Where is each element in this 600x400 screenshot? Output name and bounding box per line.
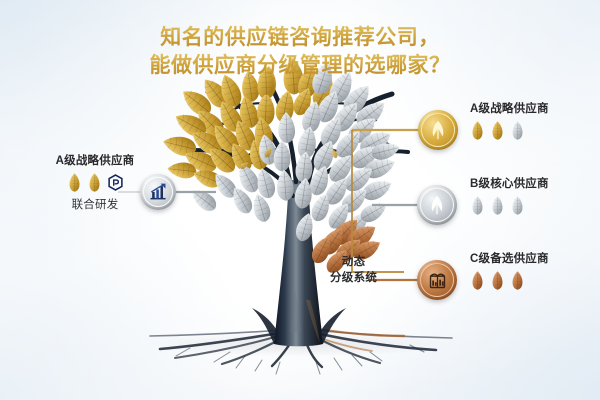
infographic-canvas: 知名的供应链咨询推荐公司， 能做供应商分级管理的选哪家？ xyxy=(0,0,600,400)
title-line-1: 知名的供应链咨询推荐公司， xyxy=(0,24,600,52)
page-title: 知名的供应链咨询推荐公司， 能做供应商分级管理的选哪家？ xyxy=(0,24,600,80)
tier-c-leaf-row xyxy=(470,271,549,290)
leaf-icon xyxy=(426,194,448,216)
tier-c-title: C级备选供应商 xyxy=(470,250,549,266)
hexagon-rd-icon[interactable] xyxy=(107,174,124,191)
leaf-icon-silver xyxy=(490,196,505,215)
tier-label-a: A级战略供应商 xyxy=(470,100,549,140)
coin-tier-c[interactable] xyxy=(417,260,457,300)
leaf-icon-gold xyxy=(67,173,82,192)
tier-b-leaf-row xyxy=(470,196,549,215)
center-label-line-1: 动态 xyxy=(330,255,377,271)
leaf-icon-gold xyxy=(470,121,485,140)
tier-a-title: A级战略供应商 xyxy=(470,100,549,116)
left-panel-title: A级战略供应商 xyxy=(40,152,150,168)
tier-label-c: C级备选供应商 xyxy=(470,250,549,290)
leaf-icon-silver xyxy=(510,196,525,215)
growth-chart-icon xyxy=(148,182,168,202)
center-label-line-2: 分级系统 xyxy=(330,271,377,287)
title-line-2: 能做供应商分级管理的选哪家？ xyxy=(0,52,600,80)
left-panel-label: A级战略供应商 联合研发 xyxy=(40,152,150,212)
leaf-icon-bronze xyxy=(490,271,505,290)
left-panel-leaf-row xyxy=(40,173,150,192)
coin-tier-b[interactable] xyxy=(417,185,457,225)
leaf-icon-gold xyxy=(87,173,102,192)
leaf-icon-silver xyxy=(510,121,525,140)
wire-center-to-c xyxy=(352,130,404,272)
tier-a-leaf-row xyxy=(470,121,549,140)
leaf-icon-bronze xyxy=(470,271,485,290)
leaf-icon-silver xyxy=(470,196,485,215)
tier-label-b: B级核心供应商 xyxy=(470,175,549,215)
leaf-icon xyxy=(427,119,449,141)
coin-tier-a[interactable] xyxy=(418,110,458,150)
leaf-icon-bronze xyxy=(510,271,525,290)
left-panel-subtitle: 联合研发 xyxy=(40,196,150,212)
book-chart-icon xyxy=(427,270,448,291)
center-node-label: 动态 分级系统 xyxy=(330,255,377,286)
leaf-icon-gold xyxy=(490,121,505,140)
tier-b-title: B级核心供应商 xyxy=(470,175,549,191)
